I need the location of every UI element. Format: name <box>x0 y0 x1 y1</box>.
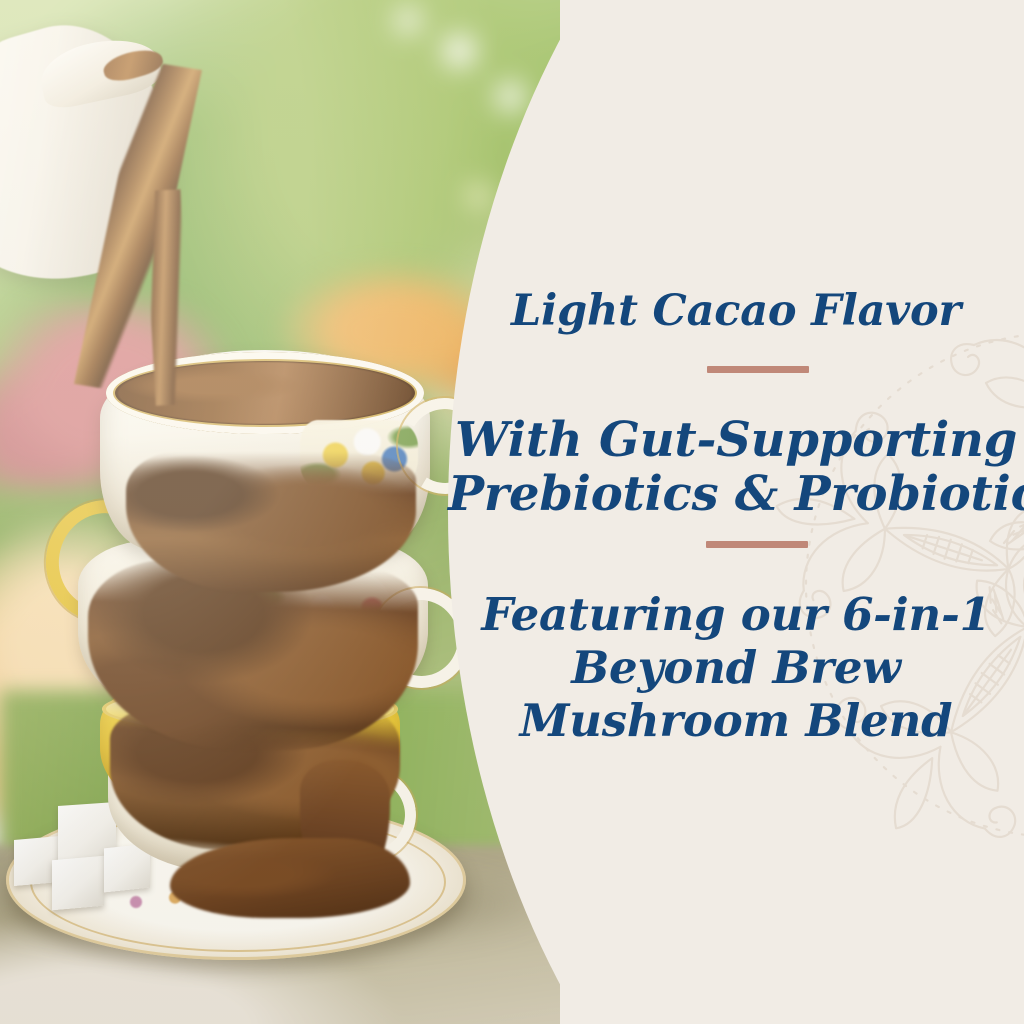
divider-rule-2 <box>706 541 808 548</box>
product-feature-graphic: Light Cacao Flavor With Gut-Supporting P… <box>0 0 1024 1024</box>
blend-line-1: Featuring our 6-in-1 <box>448 588 1024 641</box>
copy-content: Light Cacao Flavor With Gut-Supporting P… <box>448 0 1024 1024</box>
sugar-cube <box>52 856 104 911</box>
blend-line-2: Beyond Brew <box>448 641 1024 694</box>
blend-line-3: Mushroom Blend <box>448 694 1024 747</box>
divider-rule-1 <box>707 366 809 373</box>
benefit-line-1: With Gut-Supporting <box>448 412 1024 468</box>
benefit-line-2: Prebiotics & Probiotics <box>448 466 1024 522</box>
headline-line-1: Light Cacao Flavor <box>448 286 1024 336</box>
